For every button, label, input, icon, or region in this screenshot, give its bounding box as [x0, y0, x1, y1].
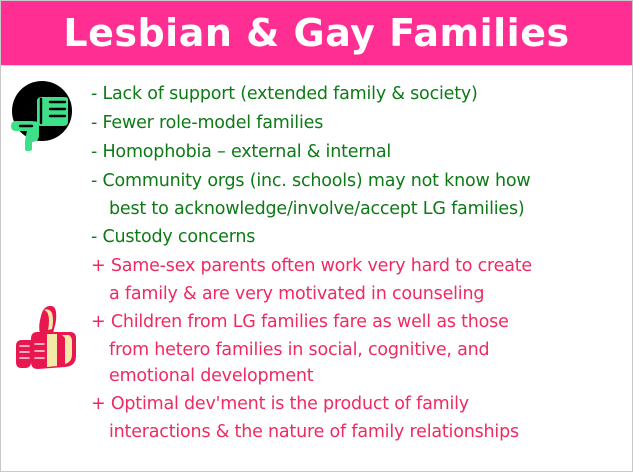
- bullet-line: + Same-sex parents often work very hard …: [91, 252, 626, 281]
- bullet-line-continuation: emotional development: [91, 363, 626, 389]
- bullet-line-continuation: best to acknowledge/involve/accept LG fa…: [91, 196, 626, 222]
- bullet-line: - Fewer role-model families: [91, 109, 626, 138]
- bullet-list: - Lack of support (extended family & soc…: [91, 80, 626, 445]
- title-banner: Lesbian & Gay Families: [1, 1, 632, 66]
- thumbs-up-icon: [13, 304, 79, 376]
- page-title: Lesbian & Gay Families: [63, 14, 569, 52]
- bullet-line: - Lack of support (extended family & soc…: [91, 80, 626, 109]
- thumbs-down-icon: [8, 79, 76, 151]
- bullet-line-continuation: interactions & the nature of family rela…: [91, 419, 626, 445]
- bullet-line-continuation: from hetero families in social, cognitiv…: [91, 337, 626, 363]
- bullet-line: - Custody concerns: [91, 223, 626, 252]
- bullet-line-continuation: a family & are very motivated in counsel…: [91, 281, 626, 307]
- slide-body: - Lack of support (extended family & soc…: [1, 67, 632, 471]
- bullet-line: + Children from LG families fare as well…: [91, 308, 626, 337]
- bullet-line: - Community orgs (inc. schools) may not …: [91, 167, 626, 196]
- bullet-line: + Optimal dev'ment is the product of fam…: [91, 390, 626, 419]
- bullet-line: - Homophobia – external & internal: [91, 138, 626, 167]
- slide: Lesbian & Gay Families: [0, 0, 633, 472]
